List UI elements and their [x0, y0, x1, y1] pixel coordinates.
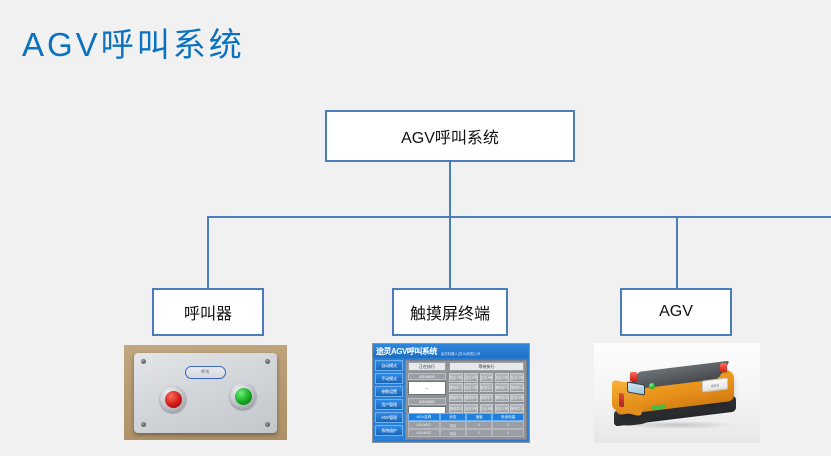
table-header-row: AGV名称 状态 速度 电池电量: [408, 413, 524, 421]
table-row[interactable]: AGV#002 待机 0 0: [408, 429, 524, 437]
screw-icon: [141, 359, 146, 364]
hmi-task-cell[interactable]: 站点-5号: [464, 404, 478, 413]
hmi-nav-item-maintenance[interactable]: 系统维护: [375, 425, 403, 436]
hmi-task-cell[interactable]: 站点-1号: [495, 373, 509, 382]
hmi-nav-item-manual[interactable]: 手动模式: [375, 373, 403, 384]
caller-badge-label: 呼叫: [186, 367, 225, 377]
agv-reflector-icon: [619, 392, 624, 407]
hmi-sidebar: 自动模式 手动模式 参数设置 用户管理 AGV管理 系统维护: [375, 360, 403, 436]
hmi-task-cell[interactable]: 等待中-5: [449, 394, 463, 403]
hmi-nav-item-agv[interactable]: AGV管理: [375, 412, 403, 423]
screw-icon: [265, 359, 270, 364]
hmi-task-cell[interactable]: 站点-3号: [464, 383, 478, 392]
hmi-header: 途灵AGV呼叫系统 途灵机器人(苏州)有限公司: [373, 344, 529, 358]
hmi-task-cell[interactable]: 站点-9号: [480, 373, 494, 382]
table-header-cell: 速度: [466, 413, 492, 421]
hmi-task-cell[interactable]: 站点-7号: [449, 373, 463, 382]
table-cell: 待机: [440, 429, 466, 437]
table-header-cell: AGV名称: [408, 413, 440, 421]
node-agv[interactable]: AGV: [620, 288, 732, 336]
caller-red-button: [160, 386, 186, 412]
table-cell: AGV#001: [408, 421, 440, 429]
connector-root-vertical: [449, 162, 451, 218]
table-cell: 待机: [440, 421, 466, 429]
hmi-task-cell[interactable]: 等待中-6: [464, 394, 478, 403]
caller-enclosure: 呼叫: [134, 353, 277, 433]
caller-green-button: [230, 383, 256, 409]
table-cell: 0: [466, 421, 492, 429]
node-caller[interactable]: 呼叫器: [152, 288, 264, 336]
node-root-label: AGV呼叫系统: [401, 124, 499, 148]
hmi-agv2-label: AGV#002: [408, 398, 446, 405]
photo-caller-device: 呼叫: [124, 345, 287, 440]
hmi-task-cell[interactable]: 等待中-7: [480, 394, 494, 403]
hmi-status-table: AGV名称 状态 速度 电池电量 AGV#001 待机 0 0 AGV#002 …: [408, 413, 524, 437]
hmi-subtitle: 途灵机器人(苏州)有限公司: [441, 351, 481, 356]
connector-drop-hmi: [449, 216, 451, 288]
screw-icon: [141, 422, 146, 427]
hmi-task-cell[interactable]: 等待中-2: [480, 383, 494, 392]
agv-button-icon: [649, 383, 655, 389]
photo-touchscreen-terminal: 途灵AGV呼叫系统 途灵机器人(苏州)有限公司 自动模式 手动模式 参数设置 用…: [372, 343, 530, 443]
table-cell: 0: [492, 421, 524, 429]
green-lamp-icon: [235, 388, 252, 405]
hmi-task-cell[interactable]: 等待中-1: [449, 383, 463, 392]
connector-drop-agv: [676, 216, 678, 288]
table-cell: 0: [492, 429, 524, 437]
agv-beacon-icon: [720, 363, 727, 372]
hmi-task-cell[interactable]: 等待中-9: [449, 404, 463, 413]
hmi-title: 途灵AGV呼叫系统: [376, 346, 437, 357]
node-caller-label: 呼叫器: [184, 300, 232, 324]
table-header-cell: 电池电量: [492, 413, 524, 421]
hmi-task-cell[interactable]: 站点-6号: [480, 404, 494, 413]
table-cell: 0: [466, 429, 492, 437]
hmi-task-cell[interactable]: 站点-2号: [510, 373, 524, 382]
hmi-agv1-label: AGV#001: [408, 373, 446, 380]
hmi-body: 正在执行 等待执行 AGV#001 — AGV#002 — 站点-7号 站点-8…: [405, 360, 527, 440]
node-agv-label: AGV: [659, 303, 693, 321]
hmi-column-header-waiting: 等待执行: [449, 362, 524, 371]
node-root-agv-call-system[interactable]: AGV呼叫系统: [325, 110, 575, 162]
connector-horizontal-bar: [207, 216, 831, 218]
hmi-nav-item-users[interactable]: 用户管理: [375, 399, 403, 410]
hmi-nav-item-settings[interactable]: 参数设置: [375, 386, 403, 397]
connector-drop-caller: [207, 216, 209, 288]
agv-beacon-icon: [630, 372, 637, 381]
hmi-task-cell[interactable]: 等待中-3: [495, 383, 509, 392]
photo-agv-robot: AGV: [594, 343, 760, 443]
hmi-task-cell[interactable]: 站点-8号: [464, 373, 478, 382]
table-row[interactable]: AGV#001 待机 0 0: [408, 421, 524, 429]
hmi-column-header-running: 正在执行: [408, 362, 446, 371]
node-touchscreen-terminal[interactable]: 触摸屏终端: [392, 288, 508, 336]
caller-badge: 呼叫: [185, 366, 226, 379]
slide-canvas: AGV呼叫系统 AGV呼叫系统 呼叫器 触摸屏终端 AGV 呼叫: [0, 0, 831, 456]
page-title: AGV呼叫系统: [22, 18, 245, 66]
node-hmi-label: 触摸屏终端: [410, 300, 490, 324]
hmi-task-cell[interactable]: 等待中-1: [510, 404, 524, 413]
table-header-cell: 状态: [440, 413, 466, 421]
red-lamp-icon: [165, 391, 182, 408]
hmi-task-cell[interactable]: 等待中-4: [510, 383, 524, 392]
hmi-agv1-value[interactable]: —: [408, 381, 446, 395]
hmi-task-cell[interactable]: 站点-1号: [495, 404, 509, 413]
hmi-nav-item-auto[interactable]: 自动模式: [375, 360, 403, 371]
hmi-task-cell[interactable]: 站点-4号: [510, 394, 524, 403]
table-cell: AGV#002: [408, 429, 440, 437]
hmi-task-cell[interactable]: 等待中-8: [495, 394, 509, 403]
screw-icon: [265, 422, 270, 427]
